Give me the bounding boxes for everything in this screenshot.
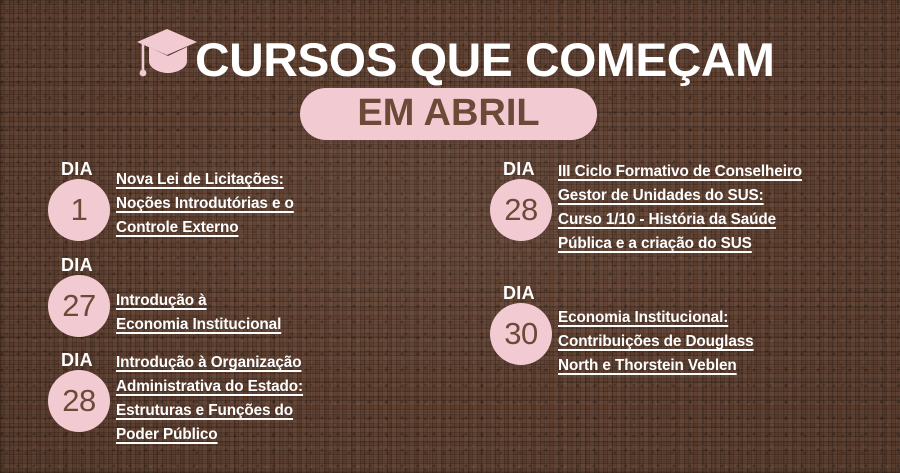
course-title[interactable]: Economia Institucional: Contribuições de… xyxy=(558,284,890,378)
graduation-cap-icon xyxy=(137,25,199,81)
day-circle: 30 xyxy=(490,303,552,365)
course-title-line: Noções Introdutórias e o xyxy=(116,192,448,216)
course-title-line: Estruturas e Funções do xyxy=(116,399,448,423)
date-badge: DIA 27 xyxy=(48,256,124,342)
course-columns: DIA 1 Nova Lei de Licitações: Noções Int… xyxy=(0,160,900,473)
course-title-line: Controle Externo xyxy=(116,216,448,240)
course-title-line: Contribuições de Douglass xyxy=(558,330,890,354)
month-pill-badge: EM ABRIL xyxy=(300,88,597,140)
course-title-line: Pública e a criação do SUS xyxy=(558,232,890,256)
dia-label: DIA xyxy=(61,160,93,178)
dia-label: DIA xyxy=(61,256,93,274)
course-title[interactable]: III Ciclo Formativo de Conselheiro Gesto… xyxy=(558,160,890,256)
course-announcement-poster: CURSOS QUE COMEÇAM EM ABRIL DIA 1 Nova L… xyxy=(0,0,900,473)
dia-label: DIA xyxy=(503,284,535,302)
course-title-line: Introdução à Organização xyxy=(116,351,448,375)
course-title-line: Nova Lei de Licitações: xyxy=(116,168,448,192)
course-title-line: Economia Institucional: xyxy=(558,306,890,330)
day-number: 30 xyxy=(504,318,537,351)
dia-label: DIA xyxy=(61,351,93,369)
date-badge: DIA 1 xyxy=(48,160,124,246)
day-number: 27 xyxy=(62,290,95,323)
date-badge: DIA 30 xyxy=(490,284,566,370)
date-badge: DIA 28 xyxy=(48,351,124,437)
course-column-right: DIA 28 III Ciclo Formativo de Conselheir… xyxy=(490,160,890,392)
course-item[interactable]: DIA 27 Introdução à Economia Institucion… xyxy=(48,256,448,337)
day-number: 1 xyxy=(71,194,88,227)
course-item[interactable]: DIA 28 III Ciclo Formativo de Conselheir… xyxy=(490,160,890,256)
course-title[interactable]: Introdução à Economia Institucional xyxy=(116,256,448,337)
course-title-line: North e Thorstein Veblen xyxy=(558,354,890,378)
course-item[interactable]: DIA 28 Introdução à Organização Administ… xyxy=(48,351,448,447)
course-item[interactable]: DIA 30 Economia Institucional: Contribui… xyxy=(490,284,890,378)
course-title-line: Poder Público xyxy=(116,423,448,447)
course-title-line: Curso 1/10 - História da Saúde xyxy=(558,208,890,232)
course-title-line: Gestor de Unidades do SUS: xyxy=(558,184,890,208)
course-item[interactable]: DIA 1 Nova Lei de Licitações: Noções Int… xyxy=(48,160,448,240)
course-column-left: DIA 1 Nova Lei de Licitações: Noções Int… xyxy=(48,160,448,461)
course-title-line: Economia Institucional xyxy=(116,313,448,337)
day-circle: 27 xyxy=(48,275,110,337)
date-badge: DIA 28 xyxy=(490,160,566,246)
page-title: CURSOS QUE COMEÇAM xyxy=(195,36,774,83)
course-title-line: III Ciclo Formativo de Conselheiro xyxy=(558,160,890,184)
dia-label: DIA xyxy=(503,160,535,178)
day-circle: 28 xyxy=(48,370,110,432)
day-number: 28 xyxy=(62,385,95,418)
day-circle: 1 xyxy=(48,179,110,241)
course-title[interactable]: Nova Lei de Licitações: Noções Introdutó… xyxy=(116,160,448,240)
title-row: CURSOS QUE COMEÇAM xyxy=(0,26,900,92)
course-title[interactable]: Introdução à Organização Administrativa … xyxy=(116,351,448,447)
course-title-line: Administrativa do Estado: xyxy=(116,375,448,399)
course-title-line: Introdução à xyxy=(116,289,448,313)
day-number: 28 xyxy=(504,194,537,227)
day-circle: 28 xyxy=(490,179,552,241)
month-pill-label: EM ABRIL xyxy=(357,94,539,135)
